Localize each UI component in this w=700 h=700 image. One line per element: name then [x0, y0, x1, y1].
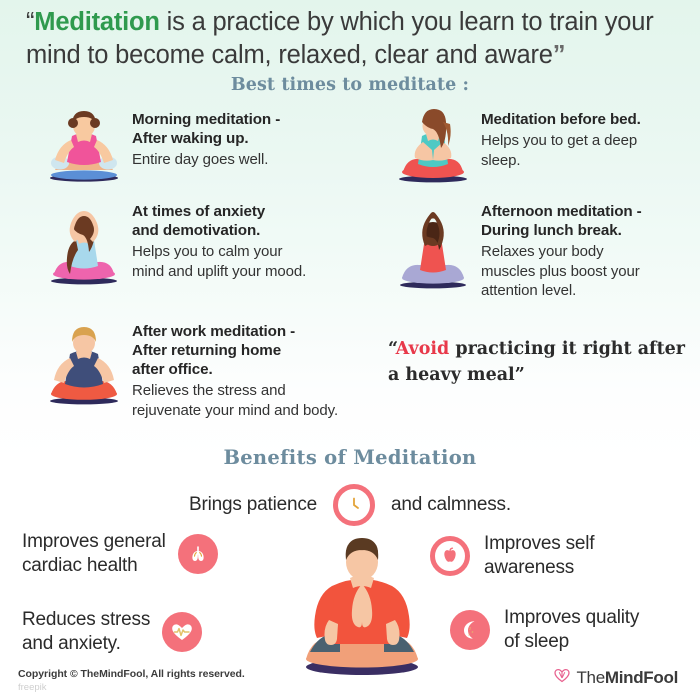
- avoid-close-quote: ”: [515, 365, 525, 385]
- best-time-card-morning: Morning meditation - After waking up. En…: [36, 106, 356, 188]
- clock-icon: [333, 484, 375, 526]
- benefit-label: Reduces stress and anxiety.: [22, 608, 150, 656]
- benefit-reduces-stress: Reduces stress and anxiety.: [22, 608, 252, 656]
- brand-name: TheMindFool: [576, 668, 678, 688]
- woman-arms-up-prayer-icon: [385, 198, 481, 280]
- benefit-self-awareness: Improves self awareness: [430, 532, 690, 580]
- lotus-heart-logo-icon: [553, 666, 571, 689]
- card-title: Morning meditation - After waking up.: [132, 110, 280, 148]
- svg-text:z: z: [472, 629, 474, 634]
- lungs-icon: [178, 534, 218, 574]
- card-title: Afternoon meditation - During lunch brea…: [481, 202, 642, 240]
- best-time-card-after-work: After work meditation - After returning …: [36, 318, 366, 420]
- brand-logo[interactable]: TheMindFool: [553, 666, 678, 689]
- benefit-label: Improves general cardiac health: [22, 530, 166, 578]
- benefit-brings-patience: Brings patience and calmness.: [0, 484, 700, 526]
- best-time-card-before-bed: Meditation before bed. Helps you to get …: [385, 106, 695, 188]
- benefit-label: Improves quality of sleep: [504, 606, 639, 654]
- benefit-text-after: and calmness.: [391, 493, 511, 517]
- card-description: Helps you to get a deep sleep.: [481, 131, 641, 170]
- avoid-quote: “Avoid practicing it right after a heavy…: [388, 336, 688, 388]
- freepik-credit: freepik: [18, 682, 47, 693]
- benefit-label: Improves self awareness: [484, 532, 594, 580]
- avoid-highlight-word: Avoid: [396, 339, 450, 359]
- card-text: At times of anxiety and demotivation. He…: [132, 198, 306, 281]
- woman-arms-overhead-icon: [36, 198, 132, 280]
- copyright-text: Copyright © TheMindFool, All rights rese…: [18, 668, 245, 680]
- benefits-section-title: Benefits of Meditation: [0, 446, 700, 469]
- card-description: Entire day goes well.: [132, 150, 280, 170]
- benefit-cardiac-health: Improves general cardiac health: [22, 530, 252, 578]
- infographic-poster: “Meditation is a practice by which you l…: [0, 0, 700, 700]
- card-description: Helps you to calm your mind and uplift y…: [132, 242, 306, 281]
- card-text: Meditation before bed. Helps you to get …: [481, 106, 641, 170]
- crescent-moon-sleep-icon: z z z: [450, 610, 490, 650]
- man-lotus-blue-shirt-icon: [36, 318, 132, 412]
- headline-close-quote: ”: [553, 41, 566, 69]
- woman-lotus-pink-top-icon: [36, 106, 132, 188]
- card-text: Morning meditation - After waking up. En…: [132, 106, 280, 170]
- card-text: Afternoon meditation - During lunch brea…: [481, 198, 642, 301]
- man-meditating-prayer-pose-icon: [288, 528, 436, 680]
- headline-highlight-word: Meditation: [34, 8, 160, 36]
- avoid-open-quote: “: [388, 339, 396, 359]
- benefit-text-before: Brings patience: [189, 493, 317, 517]
- woman-lotus-teal-top-icon: [385, 106, 481, 188]
- card-description: Relaxes your body muscles plus boost you…: [481, 242, 642, 301]
- best-time-card-afternoon: Afternoon meditation - During lunch brea…: [385, 198, 695, 301]
- card-text: After work meditation - After returning …: [132, 318, 338, 420]
- benefit-quality-of-sleep: z z z Improves quality of sleep: [450, 606, 700, 654]
- page-headline: “Meditation is a practice by which you l…: [26, 6, 676, 72]
- apple-icon: [430, 536, 470, 576]
- best-times-section-title: Best times to meditate :: [0, 75, 700, 95]
- heart-pulse-icon: [162, 612, 202, 652]
- card-title: At times of anxiety and demotivation.: [132, 202, 306, 240]
- brand-prefix: The: [576, 668, 604, 687]
- card-title: Meditation before bed.: [481, 110, 641, 129]
- best-time-card-anxiety: At times of anxiety and demotivation. He…: [36, 198, 356, 281]
- brand-suffix: MindFool: [605, 668, 678, 687]
- card-title: After work meditation - After returning …: [132, 322, 338, 379]
- card-description: Relieves the stress and rejuvenate your …: [132, 381, 338, 420]
